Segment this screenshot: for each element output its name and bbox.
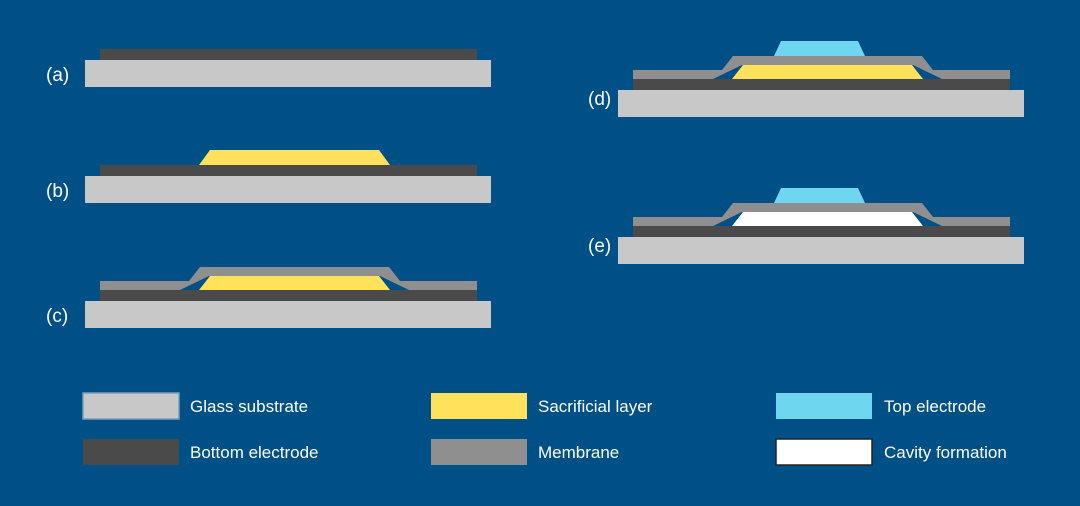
legend-label-cavity-formation: Cavity formation <box>884 443 1007 462</box>
legend-swatch-sacrificial-layer <box>431 393 527 419</box>
bottom-electrode <box>633 79 1010 90</box>
bottom-electrode <box>100 290 477 301</box>
legend-label-membrane: Membrane <box>538 443 619 462</box>
legend-swatch-bottom-electrode <box>83 439 179 465</box>
legend-item-membrane: Membrane <box>431 439 619 465</box>
glass-substrate <box>618 90 1024 117</box>
panel-label-c: (c) <box>46 306 68 327</box>
cavity-formation <box>732 212 923 226</box>
legend-swatch-membrane <box>431 439 527 465</box>
glass-substrate <box>85 301 491 328</box>
legend-item-sacrificial-layer: Sacrificial layer <box>431 393 653 419</box>
legend-swatch-top-electrode <box>776 393 872 419</box>
bottom-electrode <box>100 49 477 60</box>
glass-substrate <box>85 60 491 87</box>
legend-swatch-cavity-formation <box>776 439 872 465</box>
legend-label-glass-substrate: Glass substrate <box>190 397 308 416</box>
glass-substrate <box>85 176 491 203</box>
panel-label-d: (d) <box>588 89 611 110</box>
sacrificial-layer <box>199 276 390 290</box>
top-electrode <box>774 41 865 56</box>
bottom-electrode <box>100 165 477 176</box>
legend-label-bottom-electrode: Bottom electrode <box>190 443 319 462</box>
legend-item-bottom-electrode: Bottom electrode <box>83 439 319 465</box>
legend-label-sacrificial-layer: Sacrificial layer <box>538 397 653 416</box>
fabrication-process-diagram: (a)(b)(c)(d)(e) Glass substrateBottom el… <box>0 0 1080 506</box>
legend-swatch-glass-substrate <box>83 393 179 419</box>
sacrificial-layer <box>732 65 923 79</box>
legend-item-glass-substrate: Glass substrate <box>83 393 308 419</box>
sacrificial-layer <box>199 150 390 165</box>
panel-label-b: (b) <box>46 181 69 202</box>
panel-label-a: (a) <box>46 65 69 86</box>
glass-substrate <box>618 237 1024 264</box>
top-electrode <box>774 188 865 203</box>
bottom-electrode <box>633 226 1010 237</box>
panel-a: (a) <box>46 49 491 87</box>
legend-label-top-electrode: Top electrode <box>884 397 986 416</box>
legend-item-cavity-formation: Cavity formation <box>776 439 1007 465</box>
panel-label-e: (e) <box>588 236 611 257</box>
